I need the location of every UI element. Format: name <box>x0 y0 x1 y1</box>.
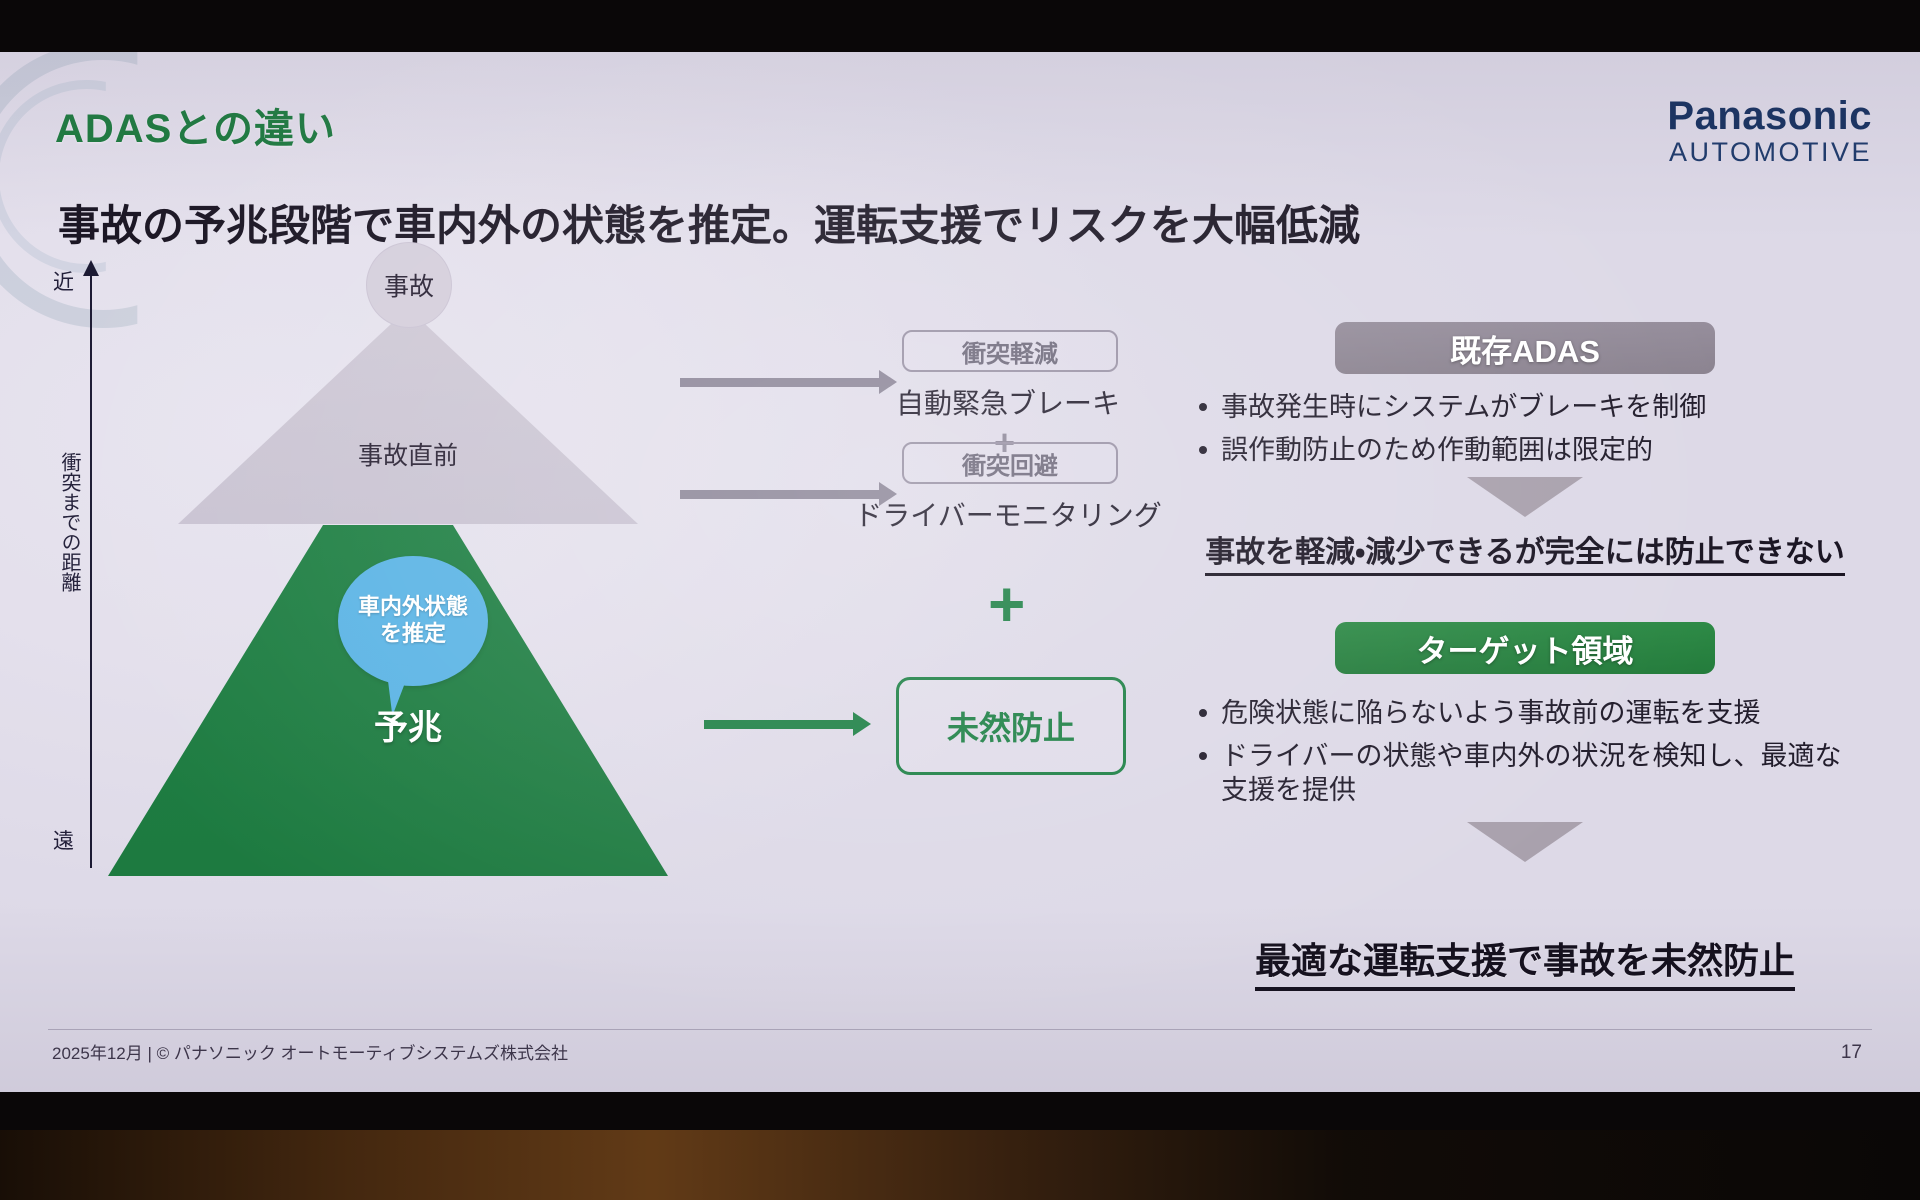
badge-collision-mitigation: 衝突軽減 <box>902 330 1118 372</box>
pyramid-shape-group: 事故 事故直前 車内外状態 を推定 予兆 <box>108 260 668 876</box>
pyramid-diagram: 近 衝突までの距離 遠 事故 事故直前 車内外状態 を推定 予兆 <box>48 260 668 880</box>
target-area-bullets: 危険状態に陥らないよう事故前の運転を支援 ドライバーの状態や車内外の状況を検知し… <box>1185 696 1865 808</box>
tag-target-area: ターゲット領域 <box>1335 622 1715 674</box>
axis-arrow-up-icon <box>83 260 99 276</box>
label-precursor: 予兆 <box>303 700 513 749</box>
list-item: 誤作動防止のため作動範囲は限定的 <box>1185 433 1865 468</box>
arrow-to-prevention-icon <box>704 720 854 729</box>
existing-adas-conclusion: 事故を軽減・減少できるが完全には防止できない <box>1205 527 1845 576</box>
existing-adas-bullets: 事故発生時にシステムがブレーキを制御 誤作動防止のため作動範囲は限定的 <box>1185 390 1865 467</box>
page-title: ADASとの違い <box>55 96 336 154</box>
tag-existing-adas: 既存ADAS <box>1335 322 1715 374</box>
list-item: ドライバーの状態や車内外の状況を検知し、最適な支援を提供 <box>1185 739 1865 808</box>
chevron-down-icon <box>1467 477 1583 517</box>
slide-subtitle: 事故の予兆段階で車内外の状態を推定。運転支援でリスクを大幅低減 <box>58 192 1360 253</box>
brand-name: Panasonic <box>1667 96 1872 136</box>
chevron-down-icon-2 <box>1467 822 1583 862</box>
right-column: 既存ADAS 事故発生時にシステムがブレーキを制御 誤作動防止のため作動範囲は限… <box>1185 322 1865 862</box>
bubble-line-2: を推定 <box>380 621 446 648</box>
badge-collision-avoidance: 衝突回避 <box>902 442 1118 484</box>
distance-axis-line <box>90 272 92 868</box>
panasonic-automotive-logo: Panasonic AUTOMOTIVE <box>1667 96 1872 170</box>
footer-divider <box>48 1029 1872 1030</box>
accident-circle: 事故 <box>366 242 452 328</box>
pyramid-gray-section <box>178 308 638 524</box>
presentation-slide: ADASとの違い Panasonic AUTOMOTIVE 事故の予兆段階で車内… <box>0 52 1920 1092</box>
list-item: 事故発生時にシステムがブレーキを制御 <box>1185 390 1865 425</box>
final-statement-wrap: 最適な運転支援で事故を未然防止 <box>1185 932 1865 991</box>
label-just-before-accident: 事故直前 <box>268 436 548 472</box>
brand-subname: AUTOMOTIVE <box>1667 136 1872 170</box>
plus-big-icon: + <box>988 572 1025 636</box>
list-item: 危険状態に陥らないよう事故前の運転を支援 <box>1185 696 1865 731</box>
projection-photo-frame: ADASとの違い Panasonic AUTOMOTIVE 事故の予兆段階で車内… <box>0 0 1920 1200</box>
axis-label-far: 遠 <box>53 825 74 855</box>
footer-copyright: 2025年12月 | © パナソニック オートモーティブシステムズ株式会社 <box>52 1039 568 1064</box>
stage-light-glow <box>0 1130 1920 1200</box>
existing-adas-conclusion-wrap: 事故を軽減・減少できるが完全には防止できない <box>1185 527 1865 576</box>
bubble-line-1: 車内外状態 <box>358 594 468 621</box>
page-number: 17 <box>1841 1042 1862 1064</box>
text-automatic-emergency-brake: 自動緊急ブレーキ <box>843 382 1173 422</box>
box-prevention: 未然防止 <box>896 677 1126 775</box>
final-statement: 最適な運転支援で事故を未然防止 <box>1255 932 1795 991</box>
text-driver-monitoring: ドライバーモニタリング <box>843 494 1173 534</box>
axis-label-distance: 衝突までの距離 <box>54 452 80 702</box>
axis-label-near: 近 <box>53 266 74 296</box>
state-estimation-bubble: 車内外状態 を推定 <box>338 556 488 686</box>
